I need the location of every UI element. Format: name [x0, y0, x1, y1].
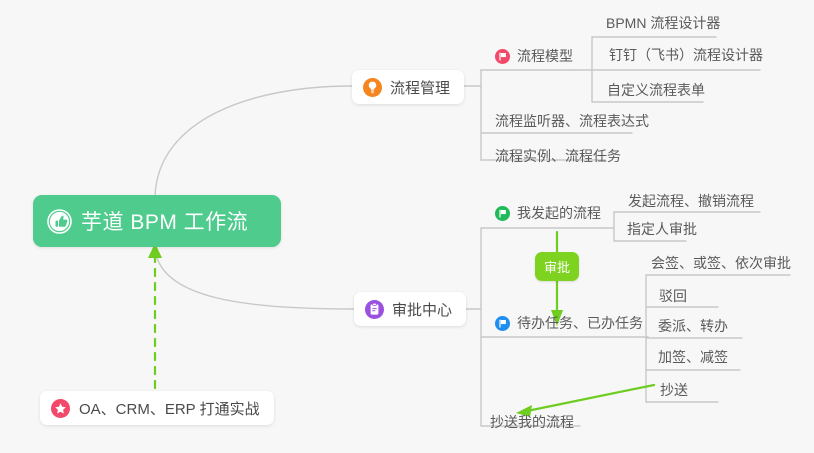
node-shenpi-zhongxin[interactable]: 审批中心 [354, 292, 466, 326]
node-jiantingqi-label: 流程监听器、流程表达式 [495, 111, 649, 131]
node-zhidingren-label: 指定人审批 [627, 219, 697, 239]
root-label: 芋道 BPM 工作流 [81, 206, 248, 236]
flag-icon-red [495, 49, 510, 64]
node-liucheng-moxing[interactable]: 流程模型 [489, 43, 579, 69]
node-jiaqian-label: 加签、减签 [658, 347, 728, 367]
node-daiban[interactable]: 待办任务、已办任务 [489, 310, 649, 336]
node-dingding-label: 钉钉（飞书）流程设计器 [609, 45, 763, 65]
thumbs-up-icon [47, 209, 72, 234]
shenpi-badge-label: 审批 [544, 260, 570, 275]
node-oa-crm-erp[interactable]: OA、CRM、ERP 打通实战 [40, 391, 274, 425]
node-dingding[interactable]: 钉钉（飞书）流程设计器 [603, 42, 769, 68]
star-icon [51, 399, 70, 418]
node-liucheng-guanli-label: 流程管理 [390, 77, 450, 98]
node-liucheng-guanli[interactable]: 流程管理 [352, 70, 464, 104]
mindmap-canvas: 芋道 BPM 工作流 流程管理 审批中心 [0, 0, 814, 453]
node-shili-label: 流程实例、流程任务 [495, 146, 621, 166]
arrow-chaosong-line [527, 385, 654, 411]
clipboard-icon [365, 300, 384, 319]
node-jiantingqi[interactable]: 流程监听器、流程表达式 [489, 108, 655, 134]
node-zidingyi-label: 自定义流程表单 [607, 80, 705, 100]
shenpi-badge[interactable]: 审批 [535, 252, 579, 281]
link-root-to-liucheng-guanli [155, 86, 352, 196]
node-zidingyi[interactable]: 自定义流程表单 [601, 77, 711, 103]
root-node[interactable]: 芋道 BPM 工作流 [33, 195, 281, 247]
node-shili[interactable]: 流程实例、流程任务 [489, 143, 627, 169]
node-faqi-chexiao-label: 发起流程、撤销流程 [628, 191, 754, 211]
node-huiqian[interactable]: 会签、或签、依次审批 [645, 250, 797, 276]
flag-icon-green [495, 206, 510, 221]
link-root-to-shenpi-zhongxin [155, 247, 354, 309]
node-shenpi-zhongxin-label: 审批中心 [392, 299, 452, 320]
node-liucheng-moxing-label: 流程模型 [517, 46, 573, 66]
node-weipai[interactable]: 委派、转办 [652, 313, 734, 339]
node-zhidingren[interactable]: 指定人审批 [621, 216, 703, 242]
node-bpmn[interactable]: BPMN 流程设计器 [600, 10, 726, 36]
node-huiqian-label: 会签、或签、依次审批 [651, 253, 791, 273]
node-bpmn-label: BPMN 流程设计器 [606, 13, 720, 33]
node-bohui[interactable]: 驳回 [653, 283, 693, 309]
node-faqi-chexiao[interactable]: 发起流程、撤销流程 [622, 188, 760, 214]
node-chaosong-wode[interactable]: 抄送我的流程 [484, 409, 580, 435]
flag-icon-blue [495, 316, 510, 331]
node-chaosong-wode-label: 抄送我的流程 [490, 412, 574, 432]
node-jiaqian[interactable]: 加签、减签 [652, 344, 734, 370]
node-chaosong-label: 抄送 [660, 380, 688, 400]
node-wofaqi-label: 我发起的流程 [517, 203, 601, 223]
node-weipai-label: 委派、转办 [658, 316, 728, 336]
node-wofaqi[interactable]: 我发起的流程 [489, 200, 607, 226]
node-daiban-label: 待办任务、已办任务 [517, 313, 643, 333]
node-bohui-label: 驳回 [659, 286, 687, 306]
node-oa-crm-erp-label: OA、CRM、ERP 打通实战 [79, 398, 260, 419]
node-chaosong[interactable]: 抄送 [654, 377, 694, 403]
lightbulb-icon [363, 78, 382, 97]
